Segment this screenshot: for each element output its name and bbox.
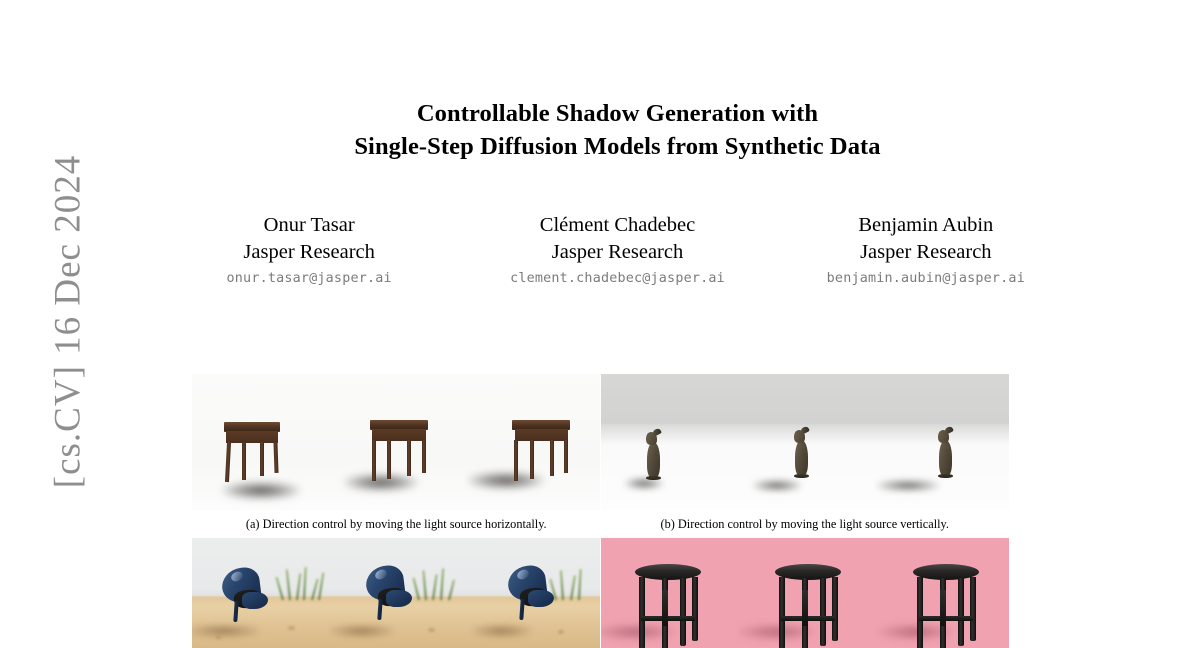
figure-cell — [873, 538, 1009, 648]
author-entry-1: Onur Tasar Jasper Research onur.tasar@ja… — [155, 212, 463, 291]
paper-column: Controllable Shadow Generation with Sing… — [155, 0, 1080, 648]
figure-cell — [737, 538, 873, 648]
page-title: Controllable Shadow Generation with Sing… — [155, 97, 1080, 163]
figure-cell — [873, 374, 1009, 510]
figure-caption-a: (a) Direction control by moving the ligh… — [192, 510, 601, 538]
author-affiliation: Jasper Research — [155, 239, 463, 266]
figure-panel-b — [601, 374, 1010, 510]
figure-cell — [464, 374, 600, 510]
figure-cell — [601, 374, 737, 510]
figure-row-top — [192, 374, 1009, 510]
title-line-1: Controllable Shadow Generation with — [155, 97, 1080, 130]
teaser-figure: (a) Direction control by moving the ligh… — [192, 374, 1009, 648]
figure-cell — [328, 538, 464, 648]
author-email[interactable]: benjamin.aubin@jasper.ai — [772, 266, 1080, 291]
author-email[interactable]: onur.tasar@jasper.ai — [155, 266, 463, 291]
figure-cell — [192, 374, 328, 510]
author-entry-2: Clément Chadebec Jasper Research clement… — [463, 212, 771, 291]
arxiv-stamp: [cs.CV] 16 Dec 2024 — [47, 122, 90, 522]
figure-row-bottom — [192, 538, 1009, 648]
figure-panel-c — [192, 538, 601, 648]
figure-cell — [328, 374, 464, 510]
author-affiliation: Jasper Research — [772, 239, 1080, 266]
figure-cell — [601, 538, 737, 648]
figure-panel-a — [192, 374, 601, 510]
figure-captions: (a) Direction control by moving the ligh… — [192, 510, 1009, 538]
figure-panel-d — [601, 538, 1010, 648]
figure-cell — [192, 538, 328, 648]
author-entry-3: Benjamin Aubin Jasper Research benjamin.… — [772, 212, 1080, 291]
title-line-2: Single-Step Diffusion Models from Synthe… — [155, 130, 1080, 163]
figure-caption-b: (b) Direction control by moving the ligh… — [601, 510, 1010, 538]
author-name: Onur Tasar — [155, 212, 463, 239]
author-email[interactable]: clement.chadebec@jasper.ai — [463, 266, 771, 291]
figure-cell — [464, 538, 600, 648]
author-name: Benjamin Aubin — [772, 212, 1080, 239]
author-name: Clément Chadebec — [463, 212, 771, 239]
author-affiliation: Jasper Research — [463, 239, 771, 266]
figure-cell — [737, 374, 873, 510]
author-block: Onur Tasar Jasper Research onur.tasar@ja… — [155, 212, 1080, 291]
